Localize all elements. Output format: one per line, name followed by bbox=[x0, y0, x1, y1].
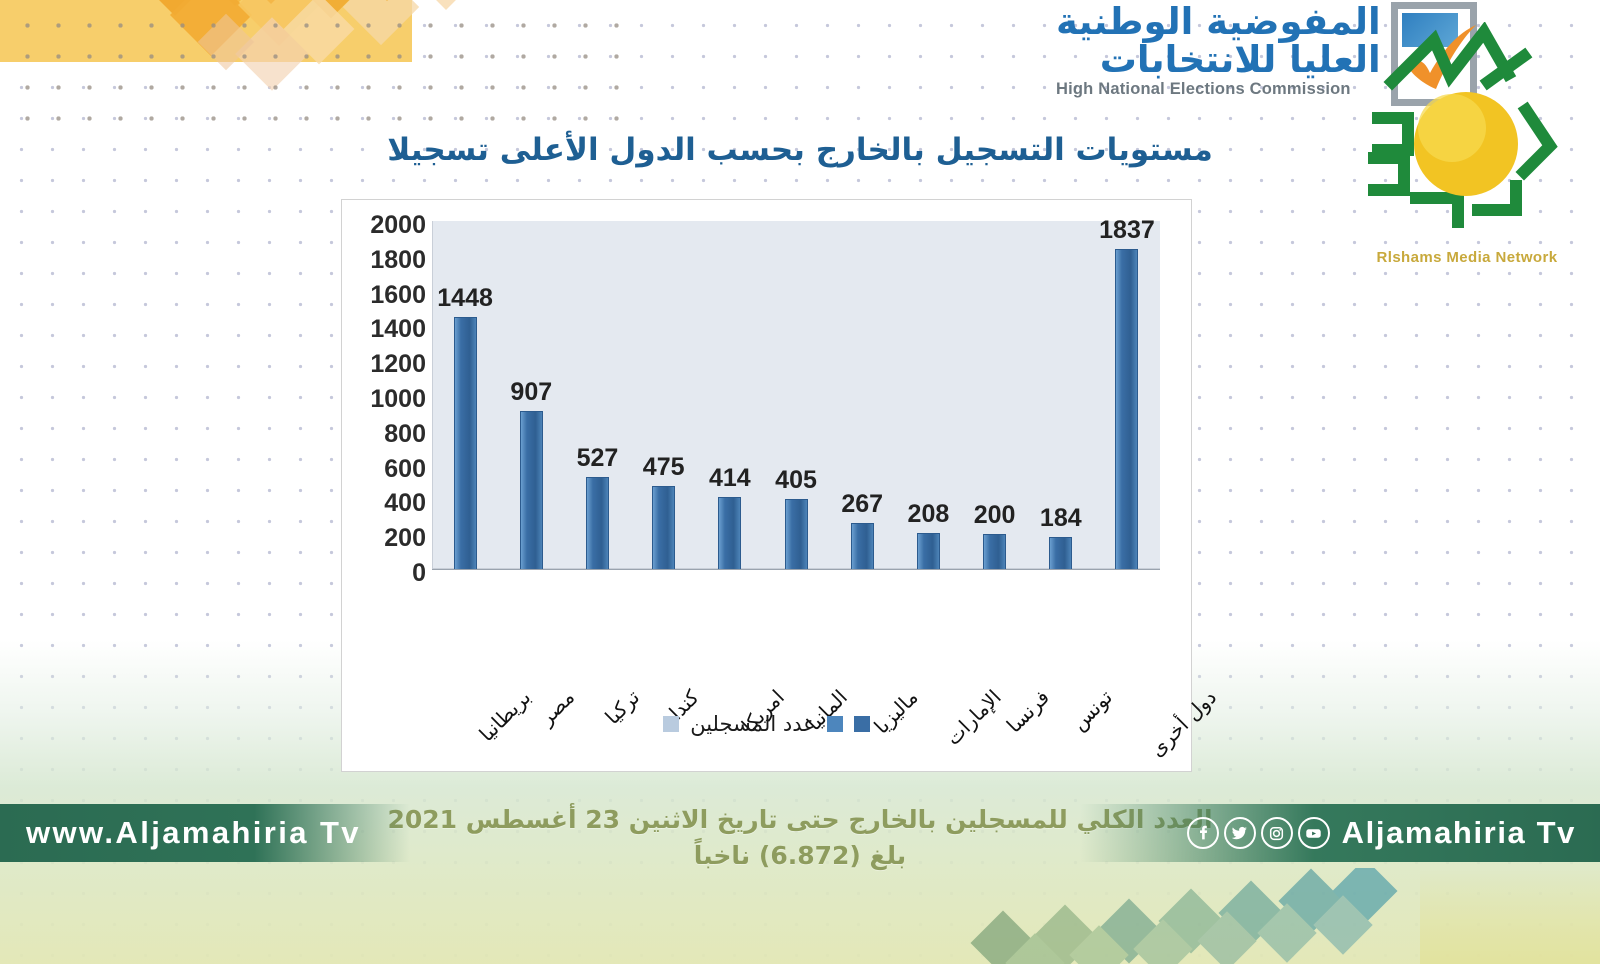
aljamahiria-mark-icon bbox=[1338, 22, 1596, 252]
bar-value-label: 184 bbox=[1040, 504, 1082, 533]
bar-value-label: 208 bbox=[908, 500, 950, 529]
y-tick-1600: 1600 bbox=[370, 283, 426, 308]
hnec-arabic-line-1: المفوضية الوطنية bbox=[1056, 4, 1381, 40]
bar-value-label: 414 bbox=[709, 464, 751, 493]
twitter-icon[interactable] bbox=[1224, 817, 1256, 849]
bottom-right-diamond-pattern bbox=[970, 868, 1430, 964]
y-axis-ticks: 2000180016001400120010008006004002000 bbox=[348, 213, 428, 577]
chart-legend: عدد المسجلين bbox=[342, 712, 1191, 736]
bar-value-label: 405 bbox=[775, 466, 817, 495]
y-tick-200: 200 bbox=[384, 526, 426, 551]
bar-column[interactable]: 184 bbox=[1028, 221, 1094, 569]
hnec-english-name: High National Elections Commission bbox=[1056, 80, 1381, 99]
facebook-icon[interactable] bbox=[1187, 817, 1219, 849]
youtube-icon[interactable] bbox=[1298, 817, 1330, 849]
y-tick-800: 800 bbox=[384, 422, 426, 447]
x-axis-labels: بريطانيامصرتركياكنداامريكاالمانياماليزيا… bbox=[432, 572, 1160, 702]
y-tick-1800: 1800 bbox=[370, 248, 426, 273]
bar-value-label: 1837 bbox=[1099, 216, 1155, 245]
bar-chart: 2000180016001400120010008006004002000 14… bbox=[341, 199, 1192, 772]
y-tick-1200: 1200 bbox=[370, 352, 426, 377]
top-left-dot-overlay bbox=[0, 0, 620, 132]
bar-column[interactable]: 200 bbox=[962, 221, 1028, 569]
bar-column[interactable]: 208 bbox=[895, 221, 961, 569]
instagram-icon[interactable] bbox=[1261, 817, 1293, 849]
bar[interactable] bbox=[983, 534, 1006, 569]
legend-swatch-3 bbox=[663, 716, 679, 732]
bar[interactable] bbox=[454, 317, 477, 569]
bar-series: 14489075274754144052672082001841837 bbox=[432, 221, 1160, 569]
bar-column[interactable]: 1448 bbox=[432, 221, 498, 569]
bar-column[interactable]: 527 bbox=[564, 221, 630, 569]
bar-column[interactable]: 414 bbox=[697, 221, 763, 569]
bar[interactable] bbox=[851, 523, 874, 569]
rlshams-caption: Rlshams Media Network bbox=[1342, 249, 1592, 266]
bar[interactable] bbox=[586, 477, 609, 569]
legend-swatch-1 bbox=[854, 716, 870, 732]
footer-website-text[interactable]: www.Aljamahiria Tv bbox=[26, 815, 361, 851]
bar-column[interactable]: 267 bbox=[829, 221, 895, 569]
y-tick-400: 400 bbox=[384, 491, 426, 516]
bar-value-label: 527 bbox=[577, 444, 619, 473]
bar-value-label: 200 bbox=[974, 501, 1016, 530]
bar[interactable] bbox=[718, 497, 741, 569]
bar[interactable] bbox=[520, 411, 543, 569]
bar-column[interactable]: 1837 bbox=[1094, 221, 1160, 569]
y-tick-1400: 1400 bbox=[370, 317, 426, 342]
bar-value-label: 907 bbox=[510, 378, 552, 407]
rlshams-media-logo: Rlshams Media Network bbox=[1338, 22, 1596, 272]
y-tick-600: 600 bbox=[384, 457, 426, 482]
footer-brand-bar: Aljamahiria Tv bbox=[1080, 804, 1600, 862]
hnec-arabic-line-2: العليا للانتخابات bbox=[1056, 40, 1381, 79]
bar-value-label: 267 bbox=[841, 490, 883, 519]
y-tick-0: 0 bbox=[412, 561, 426, 586]
bar-column[interactable]: 907 bbox=[498, 221, 564, 569]
bottom-right-plain-fade bbox=[1420, 868, 1600, 964]
bar-value-label: 1448 bbox=[437, 284, 493, 313]
bar-value-label: 475 bbox=[643, 453, 685, 482]
bar[interactable] bbox=[917, 533, 940, 569]
footer-brand-text[interactable]: Aljamahiria Tv bbox=[1342, 815, 1576, 851]
social-links bbox=[1187, 817, 1330, 849]
footer-website-bar: www.Aljamahiria Tv bbox=[0, 804, 410, 862]
bar[interactable] bbox=[652, 486, 675, 569]
y-tick-2000: 2000 bbox=[370, 213, 426, 238]
bar[interactable] bbox=[1115, 249, 1138, 569]
legend-swatch-2 bbox=[827, 716, 843, 732]
bar[interactable] bbox=[785, 499, 808, 569]
legend-label: عدد المسجلين bbox=[690, 712, 816, 736]
y-tick-1000: 1000 bbox=[370, 387, 426, 412]
bar[interactable] bbox=[1049, 537, 1072, 569]
x-axis-line bbox=[432, 569, 1160, 570]
bar-column[interactable]: 405 bbox=[763, 221, 829, 569]
bar-column[interactable]: 475 bbox=[631, 221, 697, 569]
